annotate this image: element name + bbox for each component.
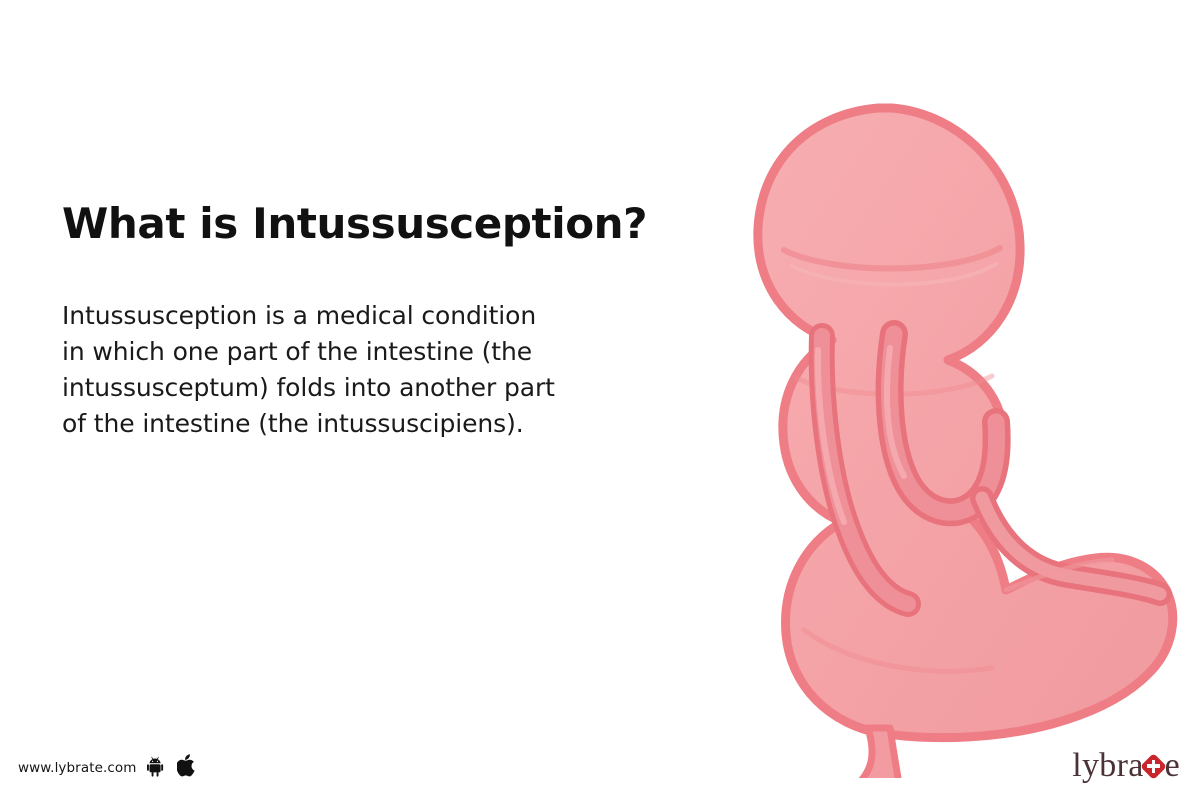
apple-icon[interactable]	[177, 754, 196, 782]
plus-diamond-icon	[1141, 753, 1167, 779]
brand-text-after: e	[1165, 749, 1180, 783]
page-title: What is Intussusception?	[62, 200, 682, 247]
website-url[interactable]: www.lybrate.com	[18, 760, 137, 776]
body-line: in which one part of the intestine (the	[62, 334, 682, 370]
brand-text-before: lybra	[1072, 749, 1143, 783]
appendix-shape	[839, 728, 900, 778]
intestine-illustration	[700, 78, 1200, 778]
footer: www.lybrate.com	[18, 754, 196, 782]
android-icon[interactable]	[147, 755, 167, 782]
text-block: What is Intussusception? Intussusception…	[62, 200, 682, 442]
body-paragraph: Intussusception is a medical condition i…	[62, 247, 682, 442]
plus-vertical-bar	[1152, 760, 1156, 773]
body-line: Intussusception is a medical condition	[62, 298, 682, 334]
body-line: intussusceptum) folds into another part	[62, 370, 682, 406]
body-line: of the intestine (the intussuscipiens).	[62, 406, 682, 442]
lybrate-logo[interactable]: lybra e	[1072, 746, 1180, 786]
infographic-page: What is Intussusception? Intussusception…	[0, 0, 1200, 800]
